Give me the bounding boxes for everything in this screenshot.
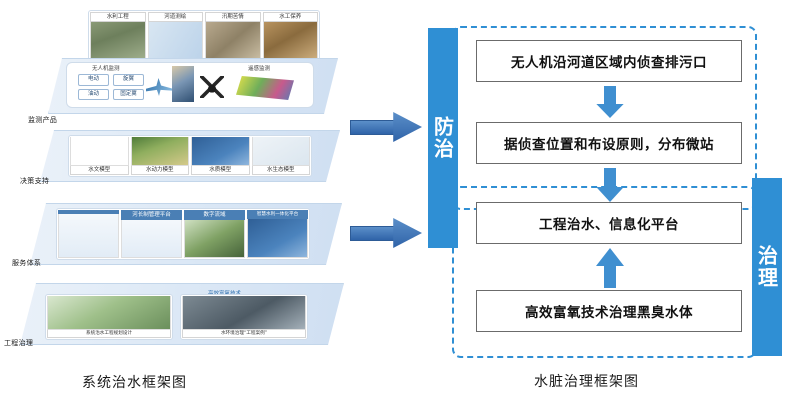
engineering-card-strip: 系统治水工程规划设计 [45,294,173,340]
platform-caption: 数字流域 [184,210,245,220]
engineering-thumbnail [47,296,171,330]
model-thumbnail [191,137,250,166]
monitoring-products-label: 监测产品 [28,115,57,125]
uav-fixedwing-button[interactable]: 固定翼 [113,89,144,101]
imagery-card-caption: 水利工程 [90,12,146,22]
arrow-head [596,248,624,266]
platform-card[interactable] [57,209,120,259]
remote-sensing-caption: 遥感监测 [248,64,270,72]
model-caption: 水质模型 [191,166,250,175]
multirotor-drone-icon [200,76,224,98]
model-caption: 水生态模型 [252,166,311,175]
flow-arrow-down-1 [596,86,624,118]
uav-rotor-button[interactable]: 旋翼 [113,74,144,86]
imagery-thumbnail [148,22,204,60]
flow-arrow-up-1 [596,248,624,288]
imagery-card-caption: 河道测绘 [148,12,204,22]
uav-type-buttons: 电动 旋翼 油动 固定翼 [78,74,144,100]
arrow-head [596,187,624,202]
engineering-card[interactable]: 系统治水工程规划设计 [46,295,172,339]
engineering-card[interactable]: 水环境治理“工程案例” [181,295,307,339]
imagery-card[interactable]: 河道测绘 [147,11,205,61]
prevention-label-bar: 防治 [428,28,458,248]
model-thumbnail [70,137,129,166]
arrow-shaft [350,120,395,135]
platform-card[interactable]: 数字流域 [183,209,246,259]
monitoring-imagery-strip: 水利工程 河道测绘 汛期苦情 水工保养 [88,10,320,62]
drone-photo-thumbnail [172,66,194,102]
engineering-caption: 系统治水工程规划设计 [47,330,171,338]
left-panel-caption: 系统治水框架图 [82,372,187,392]
model-card[interactable]: 水动力模型 [130,136,191,176]
arrow-shaft [604,86,615,104]
arrow-head [393,112,422,142]
engineering-card-strip: 水环境治理“工程案例” [180,294,308,340]
decision-support-label: 决策支持 [20,176,49,186]
treatment-label-bar: 治理 [752,178,782,356]
imagery-card-caption: 水工保养 [263,12,319,22]
imagery-thumbnail [263,22,319,60]
arrow-shaft [604,266,615,288]
imagery-card[interactable]: 汛期苦情 [204,11,262,61]
arrow-to-treatment [350,218,422,248]
imagery-thumbnail [90,22,146,60]
platform-card-strip: 河长制管理平台 数字流域 智慧水利一体化平台 [56,208,310,260]
model-thumbnail [131,137,190,166]
model-card[interactable]: 水质模型 [190,136,251,176]
platform-thumbnail [184,220,245,258]
engineering-treatment-label: 工程治理 [4,338,33,348]
platform-thumbnail [121,220,182,258]
arrow-head [393,218,422,248]
engineering-caption: 水环境治理“工程案例” [182,330,306,338]
model-thumbnail [252,137,311,166]
imagery-card[interactable]: 水工保养 [262,11,320,61]
model-caption: 水动力模型 [131,166,190,175]
arrow-shaft [604,168,615,187]
platform-thumbnail [247,219,308,258]
platform-caption: 河长制管理平台 [121,210,182,220]
platform-caption: 智慧水利一体化平台 [247,210,308,219]
flow-step-oxygen-treatment[interactable]: 高效富氧技术治理黑臭水体 [476,290,742,332]
flow-step-microstation-layout[interactable]: 据侦查位置和布设原则，分布微站 [476,122,742,164]
flow-step-uav-survey[interactable]: 无人机沿河道区域内侦查排污口 [476,40,742,82]
model-card[interactable]: 水文模型 [69,136,130,176]
uav-monitoring-caption: 无人机监测 [92,64,120,72]
model-card[interactable]: 水生态模型 [251,136,312,176]
service-system-label: 服务体系 [12,258,41,268]
framework-diagram-canvas: 水利工程 河道测绘 汛期苦情 水工保养 监测产品 无人机监测 遥感监测 电动 [0,0,800,401]
uav-fuel-button[interactable]: 油动 [78,89,109,101]
model-card-strip: 水文模型 水动力模型 水质模型 水生态模型 [68,135,312,177]
arrow-to-prevention [350,112,422,142]
imagery-thumbnail [205,22,261,60]
flow-step-engineering-platform[interactable]: 工程治水、信息化平台 [476,202,742,244]
imagery-card[interactable]: 水利工程 [89,11,147,61]
arrow-shaft [350,226,395,241]
platform-card[interactable]: 河长制管理平台 [120,209,183,259]
imagery-card-caption: 汛期苦情 [205,12,261,22]
platform-thumbnail [58,214,119,258]
platform-card[interactable]: 智慧水利一体化平台 [246,209,309,259]
model-caption: 水文模型 [70,166,129,175]
engineering-thumbnail [182,296,306,330]
uav-electric-button[interactable]: 电动 [78,74,109,86]
flow-arrow-down-2 [596,168,624,202]
right-panel-caption: 水脏治理框架图 [534,371,639,391]
arrow-head [596,104,624,118]
